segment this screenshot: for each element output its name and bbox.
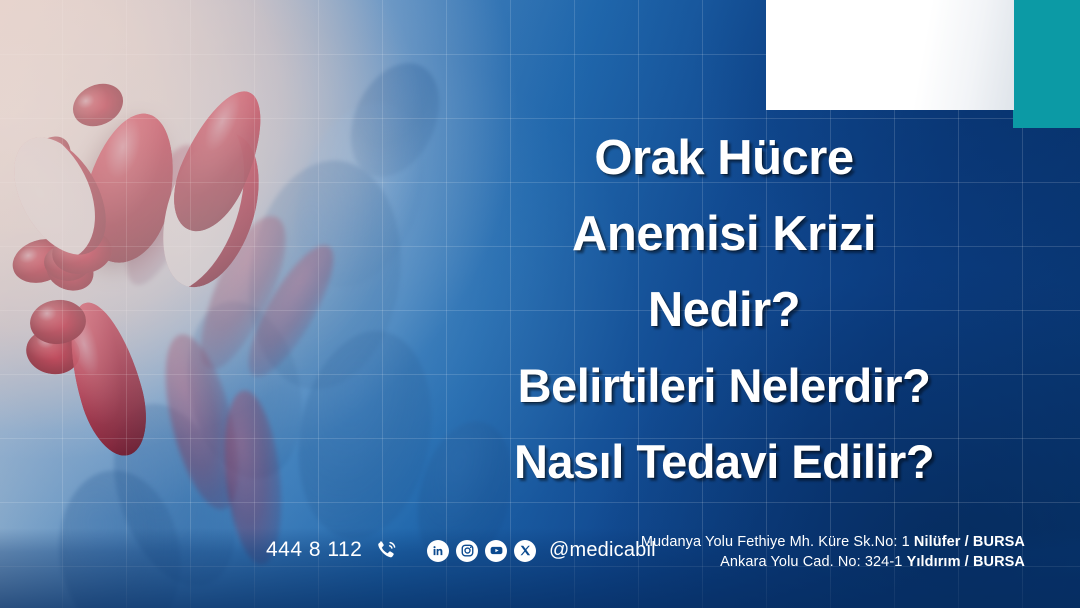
logo-panel: MEDICABIL Sağlık Grubu (766, 0, 1014, 110)
teal-accent-block (1013, 0, 1080, 128)
address-block: Mudanya Yolu Fethiye Mh. Küre Sk.No: 1 N… (595, 532, 1025, 572)
headline-line-5: Nasıl Tedavi Edilir? (400, 424, 1048, 500)
phone-icon (374, 538, 398, 562)
phone-number: 444 8 112 (266, 538, 362, 562)
address-line-2-street: Ankara Yolu Cad. No: 324-1 (720, 554, 907, 570)
headline-line-1: Orak Hücre (400, 120, 1048, 196)
instagram-icon[interactable] (456, 540, 478, 562)
headline-line-3: Nedir? (400, 272, 1048, 348)
phone-group[interactable]: 444 8 112 (266, 538, 398, 562)
address-line-1: Mudanya Yolu Fethiye Mh. Küre Sk.No: 1 N… (595, 532, 1025, 552)
address-line-1-district: Nilüfer / BURSA (914, 534, 1025, 550)
x-twitter-icon[interactable] (514, 540, 536, 562)
headline-line-4: Belirtileri Nelerdir? (400, 348, 1048, 424)
address-line-2: Ankara Yolu Cad. No: 324-1 Yıldırım / BU… (595, 552, 1025, 572)
headline-line-2: Anemisi Krizi (400, 196, 1048, 272)
headline-block: Orak Hücre Anemisi Krizi Nedir? Belirtil… (400, 120, 1048, 500)
promo-banner: MEDICABIL Sağlık Grubu Orak Hücre Anemis… (0, 0, 1080, 608)
linkedin-icon[interactable] (427, 540, 449, 562)
youtube-icon[interactable] (485, 540, 507, 562)
address-line-1-street: Mudanya Yolu Fethiye Mh. Küre Sk.No: 1 (641, 534, 914, 550)
address-line-2-district: Yıldırım / BURSA (907, 554, 1025, 570)
